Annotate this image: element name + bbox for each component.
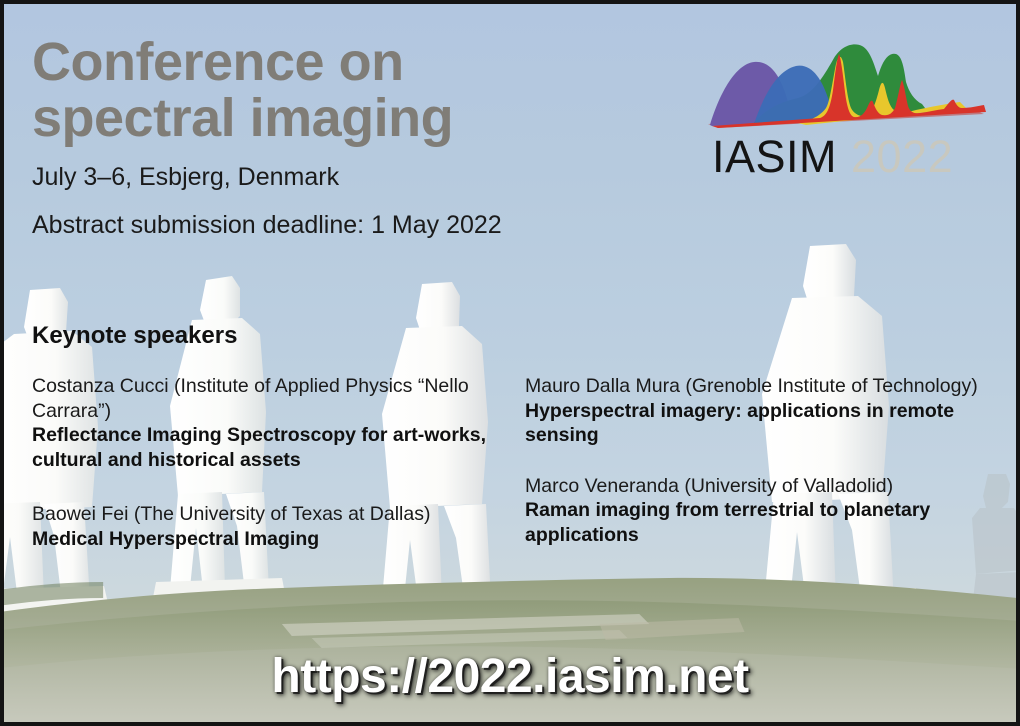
speaker-entry: Marco Veneranda (University of Valladoli…: [525, 474, 996, 548]
speaker-talk-title: Reflectance Imaging Spectroscopy for art…: [32, 423, 503, 472]
speaker-talk-title: Hyperspectral imagery: applications in r…: [525, 399, 996, 448]
page-title: Conference on spectral imaging: [32, 34, 672, 146]
speaker-entry: Mauro Dalla Mura (Grenoble Institute of …: [525, 374, 996, 448]
keynote-section: Keynote speakers Costanza Cucci (Institu…: [32, 322, 996, 581]
keynote-column-left: Costanza Cucci (Institute of Applied Phy…: [32, 374, 503, 581]
keynote-heading: Keynote speakers: [32, 322, 996, 350]
spectral-curves-icon: [702, 32, 992, 132]
speaker-affiliation: Mauro Dalla Mura (Grenoble Institute of …: [525, 374, 996, 399]
conference-poster: IASIM2022 Conference on spectral imaging…: [0, 0, 1020, 726]
logo-acronym: IASIM: [712, 131, 837, 182]
speaker-affiliation: Baowei Fei (The University of Texas at D…: [32, 502, 503, 527]
speaker-talk-title: Raman imaging from terrestrial to planet…: [525, 498, 996, 547]
logo-wordmark: IASIM2022: [702, 134, 992, 179]
dates-location: July 3–6, Esbjerg, Denmark: [32, 162, 672, 192]
speaker-entry: Baowei Fei (The University of Texas at D…: [32, 502, 503, 551]
speaker-affiliation: Marco Veneranda (University of Valladoli…: [525, 474, 996, 499]
speaker-talk-title: Medical Hyperspectral Imaging: [32, 527, 503, 552]
speaker-affiliation: Costanza Cucci (Institute of Applied Phy…: [32, 374, 503, 423]
logo-year: 2022: [851, 131, 953, 182]
keynote-column-right: Mauro Dalla Mura (Grenoble Institute of …: [525, 374, 996, 581]
conference-url[interactable]: https://2022.iasim.net: [4, 649, 1016, 704]
keynote-columns: Costanza Cucci (Institute of Applied Phy…: [32, 374, 996, 581]
headline-block: Conference on spectral imaging July 3–6,…: [32, 34, 672, 240]
poster-stage: IASIM2022 Conference on spectral imaging…: [4, 4, 1016, 722]
iasim-logo: IASIM2022: [702, 32, 992, 179]
speaker-entry: Costanza Cucci (Institute of Applied Phy…: [32, 374, 503, 472]
abstract-deadline: Abstract submission deadline: 1 May 2022: [32, 210, 672, 240]
